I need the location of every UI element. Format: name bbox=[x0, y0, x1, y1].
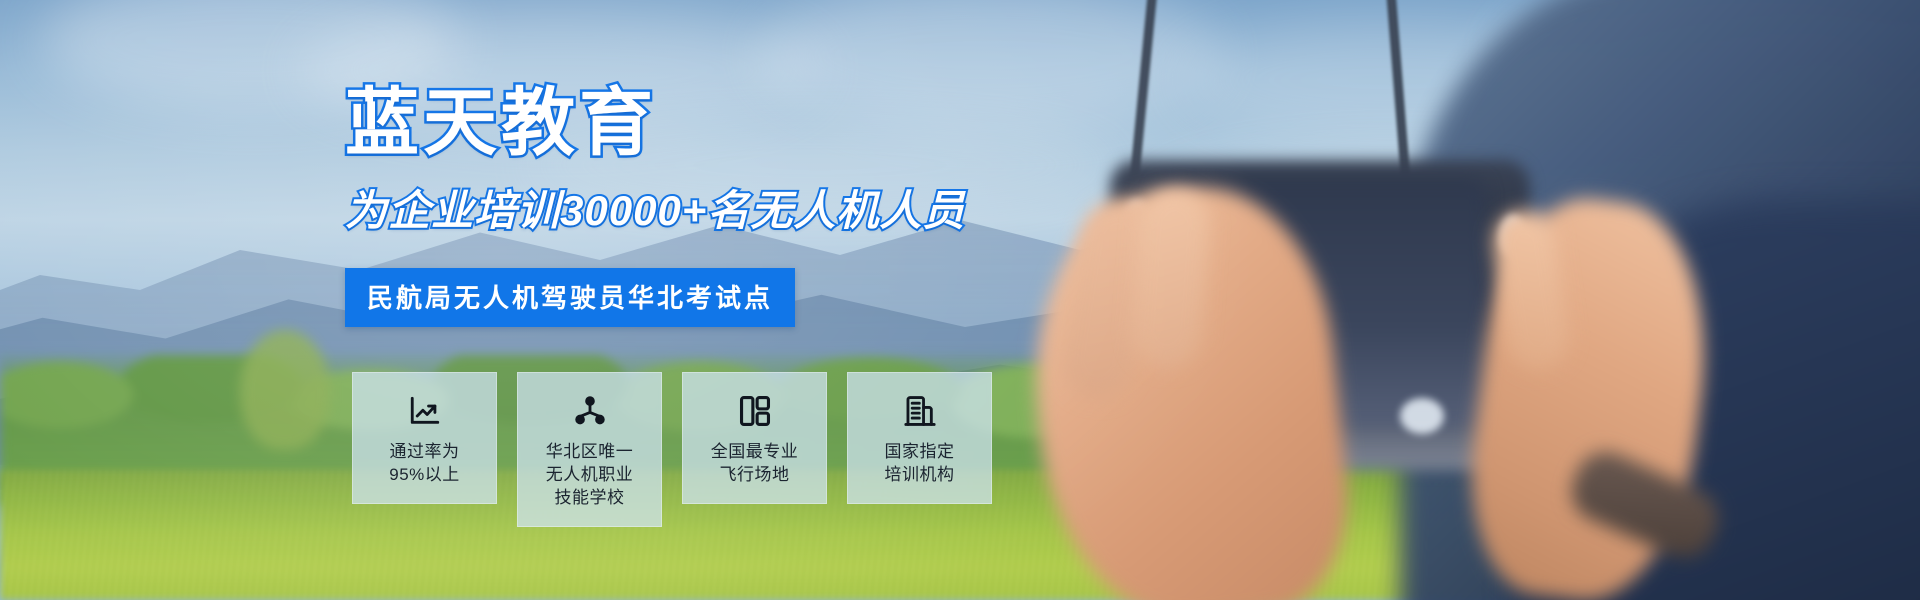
feature-card-label: 全国最专业 飞行场地 bbox=[711, 441, 799, 487]
network-nodes-icon bbox=[573, 391, 607, 431]
feature-card-label: 国家指定 培训机构 bbox=[885, 441, 955, 487]
banner-content: 蓝天教育 为企业培训30000+名无人机人员 民航局无人机驾驶员华北考试点 通过… bbox=[0, 0, 1920, 600]
banner-subtitle: 为企业培训30000+名无人机人员 bbox=[345, 190, 965, 232]
feature-card-pass-rate[interactable]: 通过率为 95%以上 bbox=[352, 372, 497, 504]
feature-card-label: 通过率为 95%以上 bbox=[389, 441, 460, 487]
certification-badge: 民航局无人机驾驶员华北考试点 bbox=[345, 268, 795, 327]
feature-card-list: 通过率为 95%以上 华北区唯一 无人机职业 技能学校 bbox=[352, 372, 992, 527]
building-icon bbox=[903, 391, 937, 431]
feature-card-flight-field[interactable]: 全国最专业 飞行场地 bbox=[682, 372, 827, 504]
layout-grid-icon bbox=[738, 391, 772, 431]
feature-card-national-institution[interactable]: 国家指定 培训机构 bbox=[847, 372, 992, 504]
feature-card-only-school[interactable]: 华北区唯一 无人机职业 技能学校 bbox=[517, 372, 662, 527]
banner-title: 蓝天教育 bbox=[345, 86, 657, 160]
hero-banner: 蓝天教育 为企业培训30000+名无人机人员 民航局无人机驾驶员华北考试点 通过… bbox=[0, 0, 1920, 600]
feature-card-label: 华北区唯一 无人机职业 技能学校 bbox=[546, 441, 634, 510]
chart-line-up-icon bbox=[408, 391, 442, 431]
